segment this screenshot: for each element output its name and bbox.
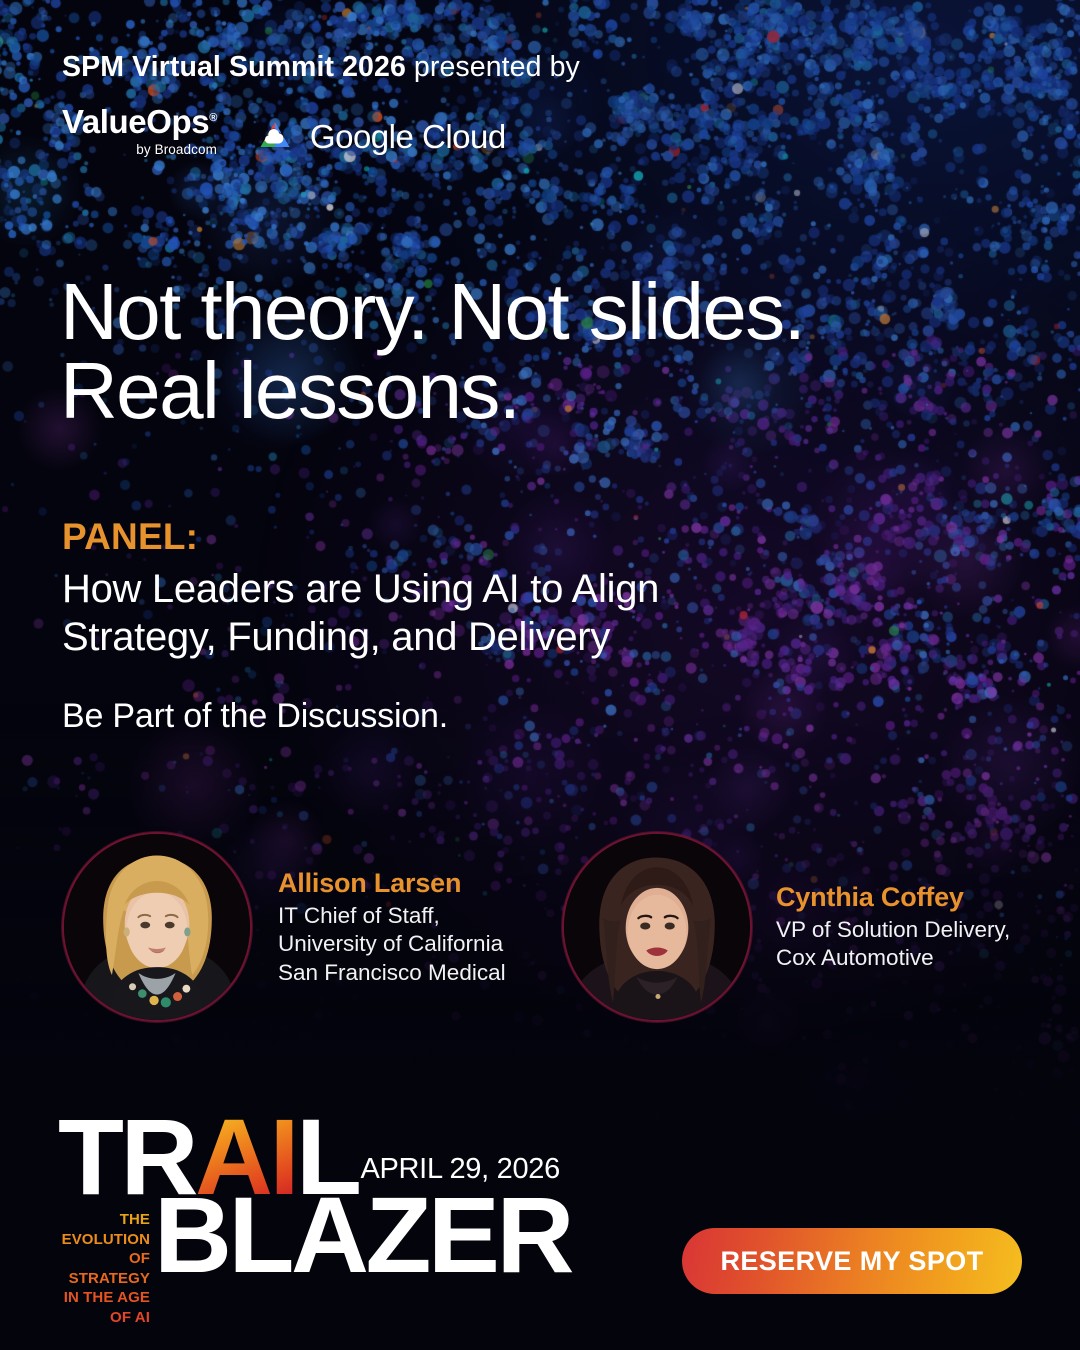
speaker-card: Cynthia Coffey VP of Solution Delivery, … xyxy=(562,832,1022,1022)
speakers-list: Allison Larsen IT Chief of Staff, Univer… xyxy=(62,832,1062,1022)
header-block: SPM Virtual Summit 2026 presented by Val… xyxy=(62,52,580,159)
valueops-logo: ValueOps® by Broadcom xyxy=(62,105,217,159)
speaker-name: Cynthia Coffey xyxy=(776,881,1010,914)
tagline-line-3: OF STRATEGY xyxy=(58,1249,150,1288)
page-title: Not theory. Not slides. Real lessons. xyxy=(60,272,1040,430)
tagline-line-5: OF AI xyxy=(58,1308,150,1328)
panel-block: PANEL: How Leaders are Using AI to Align… xyxy=(62,516,942,736)
panel-kicker: PANEL: xyxy=(62,516,942,557)
promo-poster: SPM Virtual Summit 2026 presented by Val… xyxy=(0,0,1080,1350)
google-cloud-mark-icon xyxy=(253,119,297,153)
speaker-role: IT Chief of Staff, University of Califor… xyxy=(278,902,506,988)
speaker-role-line-2: University of California xyxy=(278,930,506,959)
speaker-photo-cynthia-coffey xyxy=(562,832,752,1022)
speaker-name: Allison Larsen xyxy=(278,867,506,900)
trailblazer-word-blazer: BLAZER xyxy=(154,1192,571,1278)
speaker-role-line-1: VP of Solution Delivery, xyxy=(776,916,1010,945)
google-cloud-wordmark: Google Cloud xyxy=(310,120,506,153)
speaker-role-line-2: Cox Automotive xyxy=(776,944,1010,973)
speaker-card: Allison Larsen IT Chief of Staff, Univer… xyxy=(62,832,562,1022)
panel-subcta-text: Be Part of the Discussion. xyxy=(62,697,942,736)
tagline-line-4: IN THE AGE xyxy=(58,1288,150,1308)
event-eyebrow: SPM Virtual Summit 2026 presented by xyxy=(62,52,580,83)
valueops-wordmark: ValueOps® xyxy=(62,105,217,138)
panel-title-line-1: How Leaders are Using AI to Align xyxy=(62,566,942,613)
headline-line-1: Not theory. Not slides. xyxy=(60,272,1040,351)
speaker-role-line-3: San Francisco Medical xyxy=(278,959,506,988)
tagline-line-1: THE xyxy=(58,1210,150,1230)
sponsor-logos: ValueOps® by Broadcom xyxy=(62,105,580,159)
valueops-byline: by Broadcom xyxy=(62,142,217,157)
speaker-role-line-1: IT Chief of Staff, xyxy=(278,902,506,931)
speaker-info: Allison Larsen IT Chief of Staff, Univer… xyxy=(278,867,506,988)
trailblazer-row-bottom: THE EVOLUTION OF STRATEGY IN THE AGE OF … xyxy=(58,1192,658,1327)
registered-mark-icon: ® xyxy=(209,112,217,124)
speaker-role: VP of Solution Delivery, Cox Automotive xyxy=(776,916,1010,973)
valueops-name: ValueOps xyxy=(62,103,209,140)
headline-line-2: Real lessons. xyxy=(60,351,1040,430)
speaker-info: Cynthia Coffey VP of Solution Delivery, … xyxy=(776,881,1010,973)
speaker-photo-allison-larsen xyxy=(62,832,252,1022)
panel-title: How Leaders are Using AI to Align Strate… xyxy=(62,566,942,660)
eyebrow-light-text: presented by xyxy=(406,51,580,83)
google-cloud-logo: Google Cloud xyxy=(253,119,506,159)
tagline-line-2: EVOLUTION xyxy=(58,1230,150,1250)
eyebrow-bold-text: SPM Virtual Summit 2026 xyxy=(62,51,406,83)
panel-title-line-2: Strategy, Funding, and Delivery xyxy=(62,614,942,661)
event-tagline: THE EVOLUTION OF STRATEGY IN THE AGE OF … xyxy=(58,1192,154,1327)
reserve-my-spot-button[interactable]: RESERVE MY SPOT xyxy=(682,1228,1022,1294)
trailblazer-logo: TRAIL APRIL 29, 2026 THE EVOLUTION OF ST… xyxy=(58,1114,658,1327)
